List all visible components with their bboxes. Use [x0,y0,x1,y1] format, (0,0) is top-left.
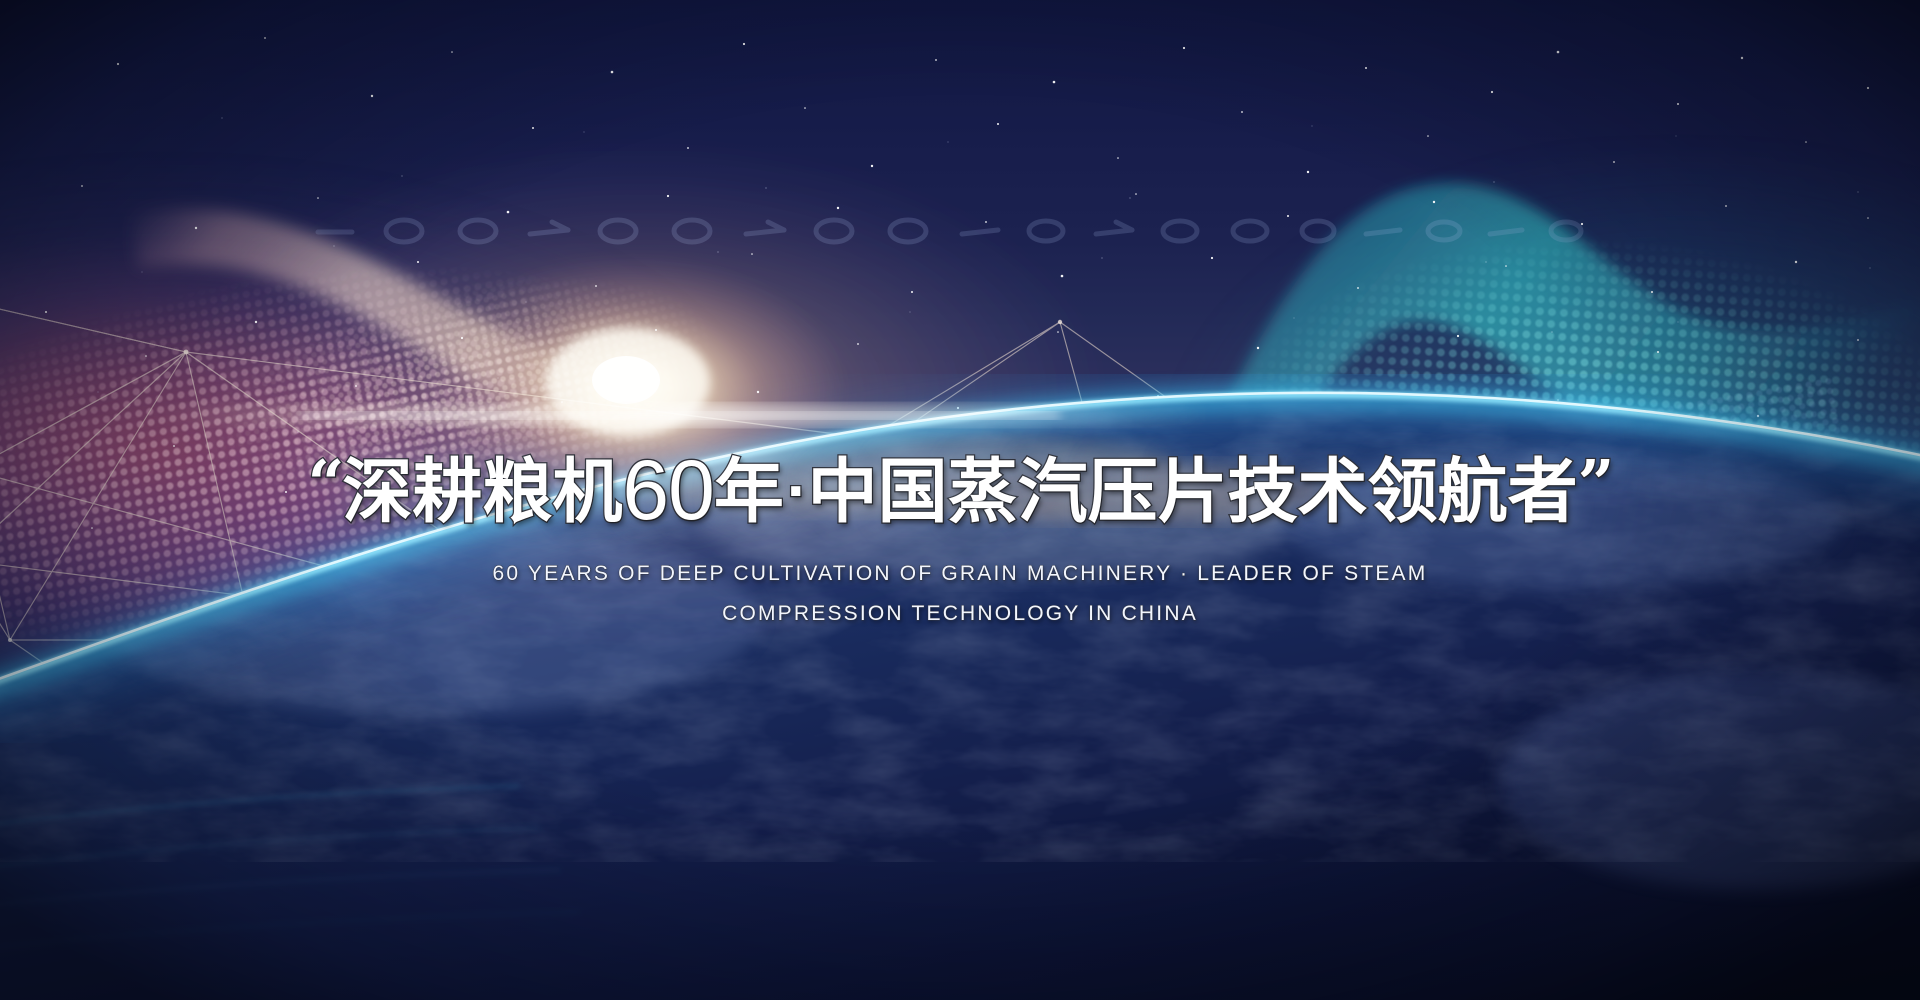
headline-part1: 深耕粮机 [342,451,622,533]
headline: “深耕粮机60年·中国蒸汽压片技术领航者” [0,448,1920,532]
banner-text-block: “深耕粮机60年·中国蒸汽压片技术领航者” 60 YEARS OF DEEP C… [0,448,1920,626]
headline-years: 60 [622,443,713,537]
open-quote: “ [308,446,343,521]
headline-separator: · [784,462,808,522]
banner-stage: “深耕粮机60年·中国蒸汽压片技术领航者” 60 YEARS OF DEEP C… [0,0,1920,1000]
subtitle-line-1: 60 YEARS OF DEEP CULTIVATION OF GRAIN MA… [0,562,1920,586]
subtitle-line-2: COMPRESSION TECHNOLOGY IN CHINA [0,602,1920,626]
close-quote: ” [1578,446,1613,521]
headline-part2: 年 [714,451,784,533]
headline-part3: 中国蒸汽压片技术领航者 [808,451,1578,533]
